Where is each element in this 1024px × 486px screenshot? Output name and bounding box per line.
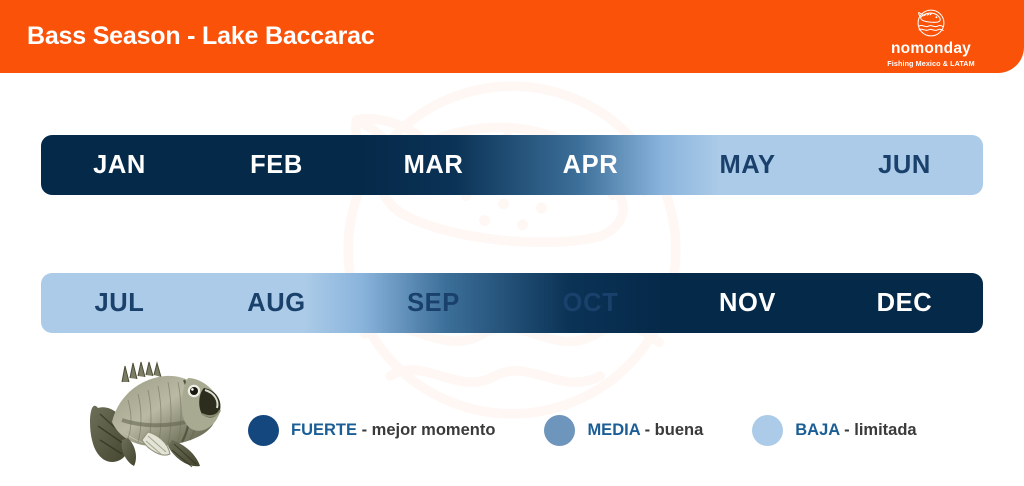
legend-key-media: MEDIA: [587, 421, 640, 439]
month-cell-aug: AUG: [198, 289, 355, 318]
month-cell-apr: APR: [512, 151, 669, 180]
legend-item-fuerte: FUERTE - mejor momento: [248, 415, 495, 446]
legend-label-fuerte: FUERTE - mejor momento: [291, 421, 495, 440]
legend-item-baja: BAJA - limitada: [752, 415, 916, 446]
largemouth-bass-photo: [88, 348, 222, 474]
fish-circle-logo-icon: [914, 6, 948, 40]
legend-label-media: MEDIA - buena: [587, 421, 703, 440]
page-header: Bass Season - Lake Baccarac nomonday Fis…: [0, 0, 1024, 73]
month-cell-jul: JUL: [41, 289, 198, 318]
legend-swatch-baja: [752, 415, 783, 446]
month-cell-jan: JAN: [41, 151, 198, 180]
month-cell-oct: OCT: [512, 289, 669, 318]
month-cell-mar: MAR: [355, 151, 512, 180]
legend-swatch-media: [544, 415, 575, 446]
page-title: Bass Season - Lake Baccarac: [27, 22, 375, 51]
month-cell-may: MAY: [669, 151, 826, 180]
month-cell-dec: DEC: [826, 289, 983, 318]
month-cell-nov: NOV: [669, 289, 826, 318]
brand-name: nomonday: [891, 41, 971, 57]
month-cell-jun: JUN: [826, 151, 983, 180]
legend-key-fuerte: FUERTE: [291, 421, 357, 439]
legend-key-baja: BAJA: [795, 421, 839, 439]
brand-logo: nomonday Fishing Mexico & LATAM: [871, 6, 991, 68]
brand-tagline: Fishing Mexico & LATAM: [887, 59, 974, 68]
season-bar-row-1: JAN FEB MAR APR MAY JUN: [41, 135, 983, 195]
legend-swatch-fuerte: [248, 415, 279, 446]
month-cell-sep: SEP: [355, 289, 512, 318]
legend-desc-media: - buena: [640, 421, 703, 439]
fish-circle-watermark-icon: [302, 40, 722, 460]
season-bar-row-2: JUL AUG SEP OCT NOV DEC: [41, 273, 983, 333]
legend-label-baja: BAJA - limitada: [795, 421, 916, 440]
legend-desc-baja: - limitada: [840, 421, 917, 439]
legend: FUERTE - mejor momento MEDIA - buena BAJ…: [248, 408, 988, 452]
month-cell-feb: FEB: [198, 151, 355, 180]
legend-item-media: MEDIA - buena: [544, 415, 703, 446]
legend-desc-fuerte: - mejor momento: [357, 421, 495, 439]
